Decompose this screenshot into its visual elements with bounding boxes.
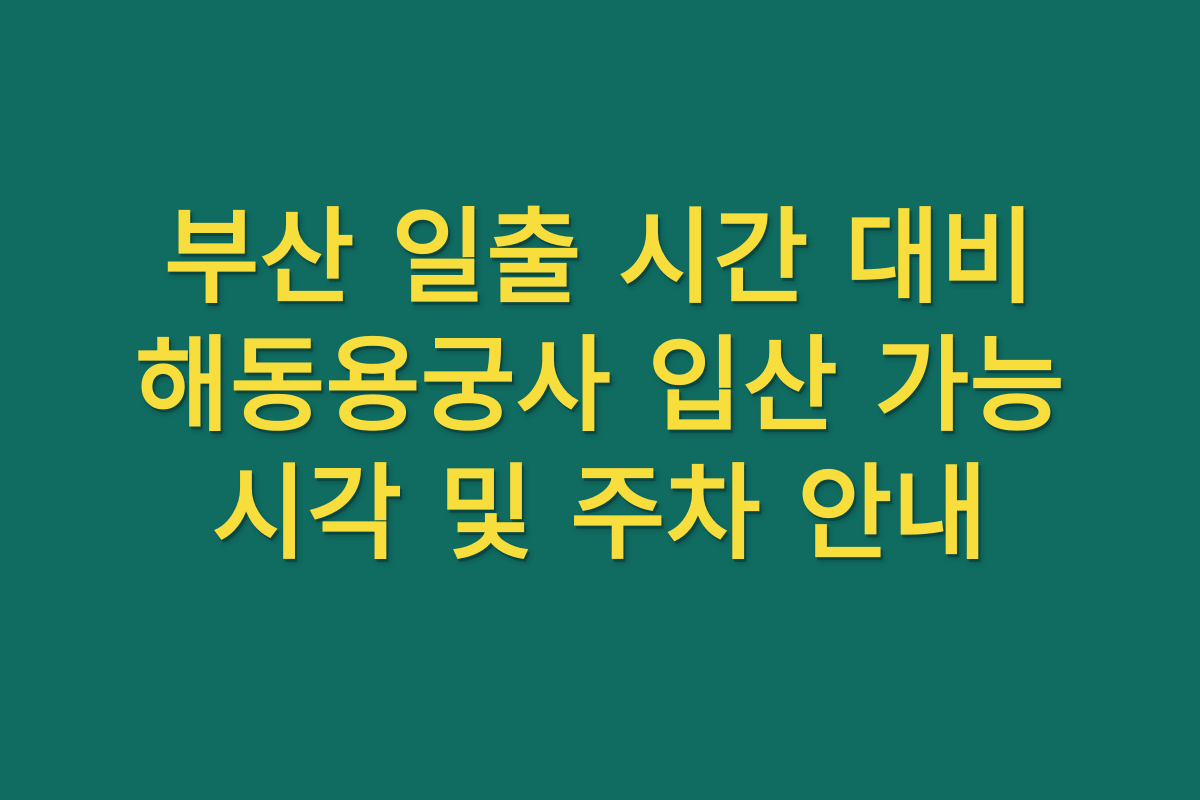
title-block: 부산 일출 시간 대비 해동용궁사 입산 가능 시각 및 주차 안내 — [115, 194, 1085, 578]
headline-text: 부산 일출 시간 대비 해동용궁사 입산 가능 시각 및 주차 안내 — [115, 194, 1085, 578]
thumbnail-canvas: 부산 일출 시간 대비 해동용궁사 입산 가능 시각 및 주차 안내 — [0, 0, 1200, 800]
